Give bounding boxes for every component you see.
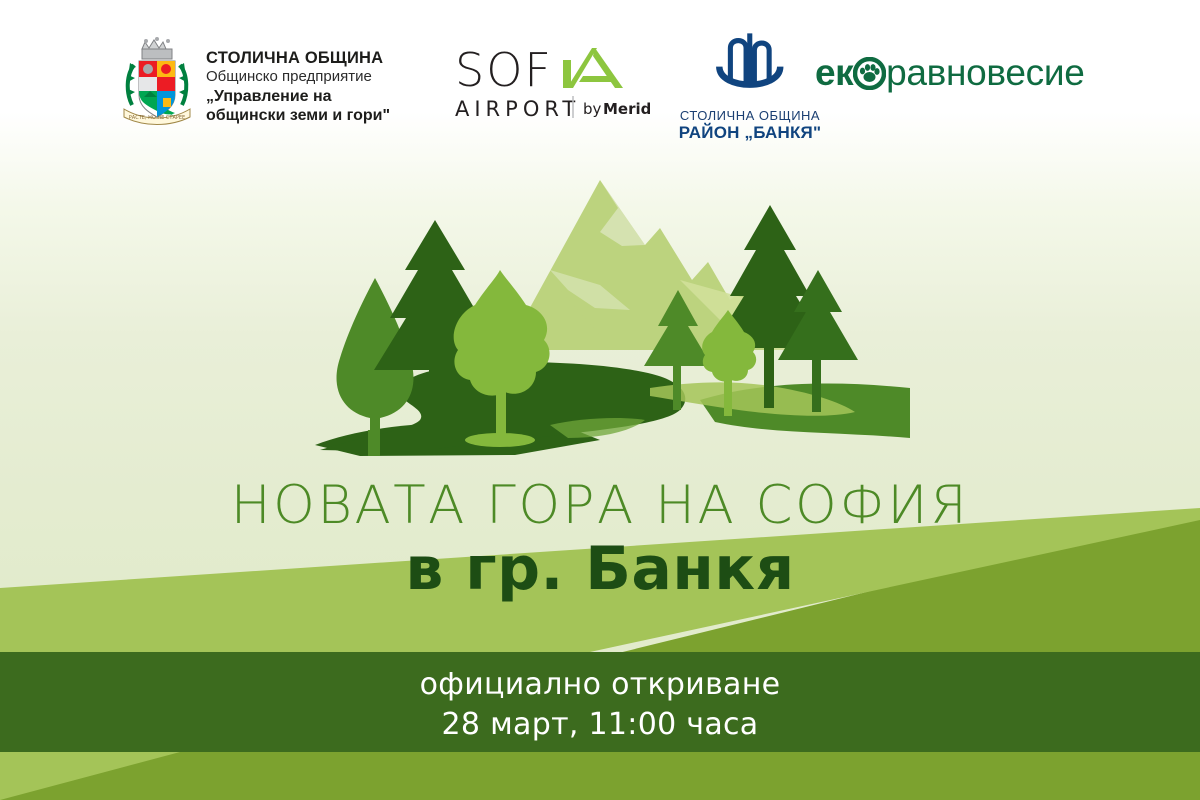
event-banner: официално откриване 28 март, 11:00 часа — [0, 652, 1200, 752]
sm-line3: „Управление на — [206, 87, 390, 106]
page-title: НОВАТА ГОРА НА СОФИЯ — [0, 478, 1200, 534]
page-subtitle: в гр. Банкя — [0, 536, 1200, 602]
bankya-line1: СТОЛИЧНА ОБЩИНА — [665, 108, 835, 123]
logo-bar: РАСТЕ, НО НЕ СТАРЕЕ СТОЛИЧНА ОБЩИНА Общи… — [0, 0, 1200, 155]
ekoravnovesie-logo: ек равновесие — [815, 54, 1085, 96]
bankya-district-logo: СТОЛИЧНА ОБЩИНА РАЙОН „БАНКЯ" — [665, 26, 835, 143]
bankya-fountain-icon — [699, 26, 801, 98]
trunk-left-1 — [368, 430, 380, 456]
eko-wordmark: ек равновесие — [815, 54, 1085, 96]
headline-block: НОВАТА ГОРА НА СОФИЯ в гр. Банкя — [0, 478, 1200, 602]
bottom-strip-shape — [0, 752, 1200, 800]
paw-print-icon — [853, 57, 886, 96]
svg-text:by: by — [583, 100, 602, 118]
sm-line4: общински земи и гори" — [206, 106, 390, 125]
poster-canvas: РАСТЕ, НО НЕ СТАРЕЕ СТОЛИЧНА ОБЩИНА Общи… — [0, 0, 1200, 800]
svg-text:SOF: SOF — [455, 46, 553, 97]
sm-line2: Общинско предприятие — [206, 68, 390, 87]
sofia-airport-wordmark-icon: SOF AIRPORT by Meridiam — [455, 46, 650, 122]
forest-mountain-illustration — [300, 150, 910, 480]
svg-text:AIRPORT: AIRPORT — [455, 97, 580, 121]
eko-regular-part: равновесие — [886, 52, 1084, 93]
eko-bold-part: ек — [815, 52, 853, 93]
sofia-airport-logo: SOF AIRPORT by Meridiam — [455, 46, 650, 122]
sm-line1: СТОЛИЧНА ОБЩИНА — [206, 49, 390, 68]
sofia-municipality-logo: РАСТЕ, НО НЕ СТАРЕЕ СТОЛИЧНА ОБЩИНА Общи… — [118, 35, 390, 127]
banner-line2: 28 март, 11:00 часа — [0, 705, 1200, 745]
svg-text:Meridiam: Meridiam — [603, 100, 650, 118]
banner-line1: официално откриване — [0, 665, 1200, 705]
sofia-coat-of-arms-icon: РАСТЕ, НО НЕ СТАРЕЕ — [118, 35, 196, 127]
sofia-municipality-text: СТОЛИЧНА ОБЩИНА Общинско предприятие „Уп… — [206, 35, 390, 126]
svg-text:РАСТЕ, НО НЕ СТАРЕЕ: РАСТЕ, НО НЕ СТАРЕЕ — [129, 115, 185, 121]
bankya-line2: РАЙОН „БАНКЯ" — [665, 123, 835, 143]
